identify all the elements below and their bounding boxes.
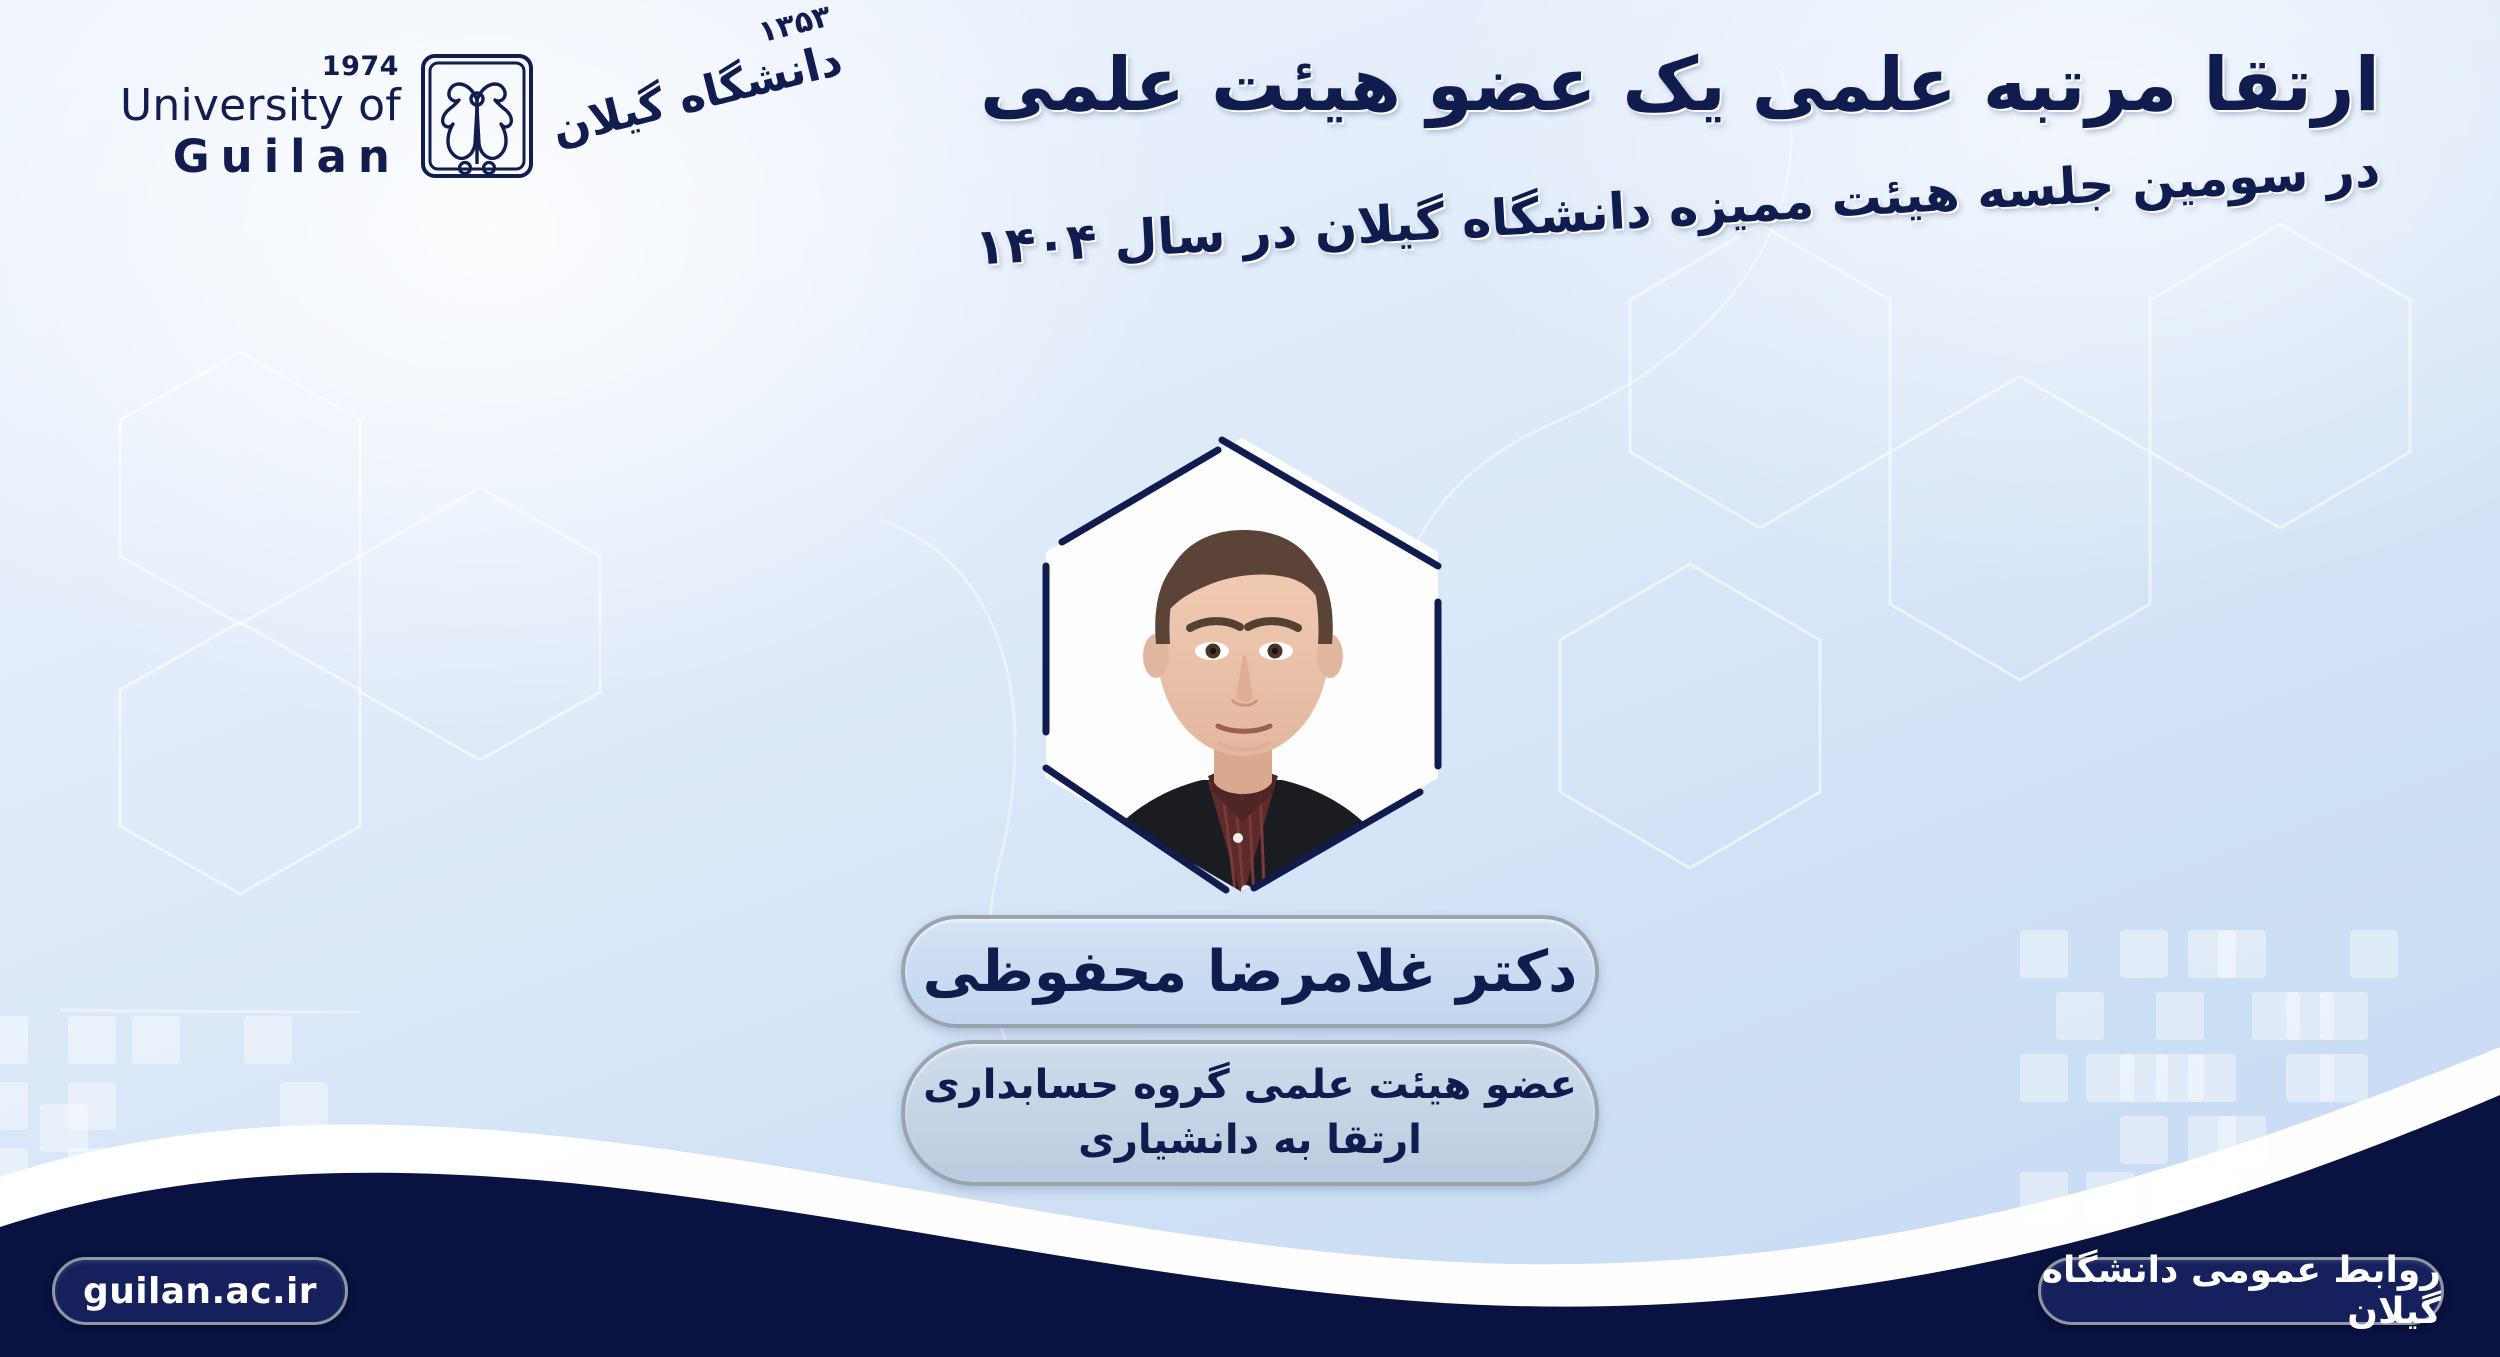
logo-persian-block: ۱۳۵۳ دانشگاه گیلان <box>526 0 847 158</box>
logo-english-text: 1974 University of Guilan <box>120 53 401 179</box>
university-logo: 1974 University of Guilan ۱۳۵۳ دانشگاه گ… <box>120 48 846 183</box>
page-subtitle: در سومین جلسه هیئت ممیزه دانشگاه گیلان د… <box>881 139 2382 283</box>
logo-university-name-fa: دانشگاه گیلان <box>547 34 847 155</box>
university-emblem-icon <box>417 52 537 180</box>
portrait-frame <box>1022 430 1462 900</box>
page-title: ارتقا مرتبه علمی یک عضو هیئت علمی <box>880 42 2380 129</box>
logo-founding-year-en: 1974 <box>322 53 399 80</box>
person-role-badge: عضو هیئت علمی گروه حسابداری ارتقا به دان… <box>901 1040 1599 1186</box>
headline-block: ارتقا مرتبه علمی یک عضو هیئت علمی در سوم… <box>880 42 2380 199</box>
logo-persian-text: ۱۳۵۳ دانشگاه گیلان <box>538 0 847 155</box>
poster-canvas: 1974 University of Guilan ۱۳۵۳ دانشگاه گ… <box>0 0 2500 1357</box>
person-role-line1: عضو هیئت علمی گروه حسابداری <box>923 1058 1577 1113</box>
person-role-line2: ارتقا به دانشیاری <box>1078 1113 1422 1168</box>
person-name-text: دکتر غلامرضا محفوظی <box>923 939 1578 1005</box>
website-badge[interactable]: guilan.ac.ir <box>52 1257 348 1325</box>
decorative-squares-right <box>1990 930 2500 1190</box>
public-relations-text: روابط عمومی دانشگاه گیلان <box>2041 1250 2441 1332</box>
person-name-badge: دکتر غلامرضا محفوظی <box>901 915 1599 1028</box>
logo-university-of-label: University of <box>120 84 401 128</box>
public-relations-badge: روابط عمومی دانشگاه گیلان <box>2038 1257 2444 1325</box>
website-url-text: guilan.ac.ir <box>83 1271 317 1312</box>
portrait-hexagon-mask <box>1022 430 1462 900</box>
logo-guilan-label: Guilan <box>173 134 401 179</box>
